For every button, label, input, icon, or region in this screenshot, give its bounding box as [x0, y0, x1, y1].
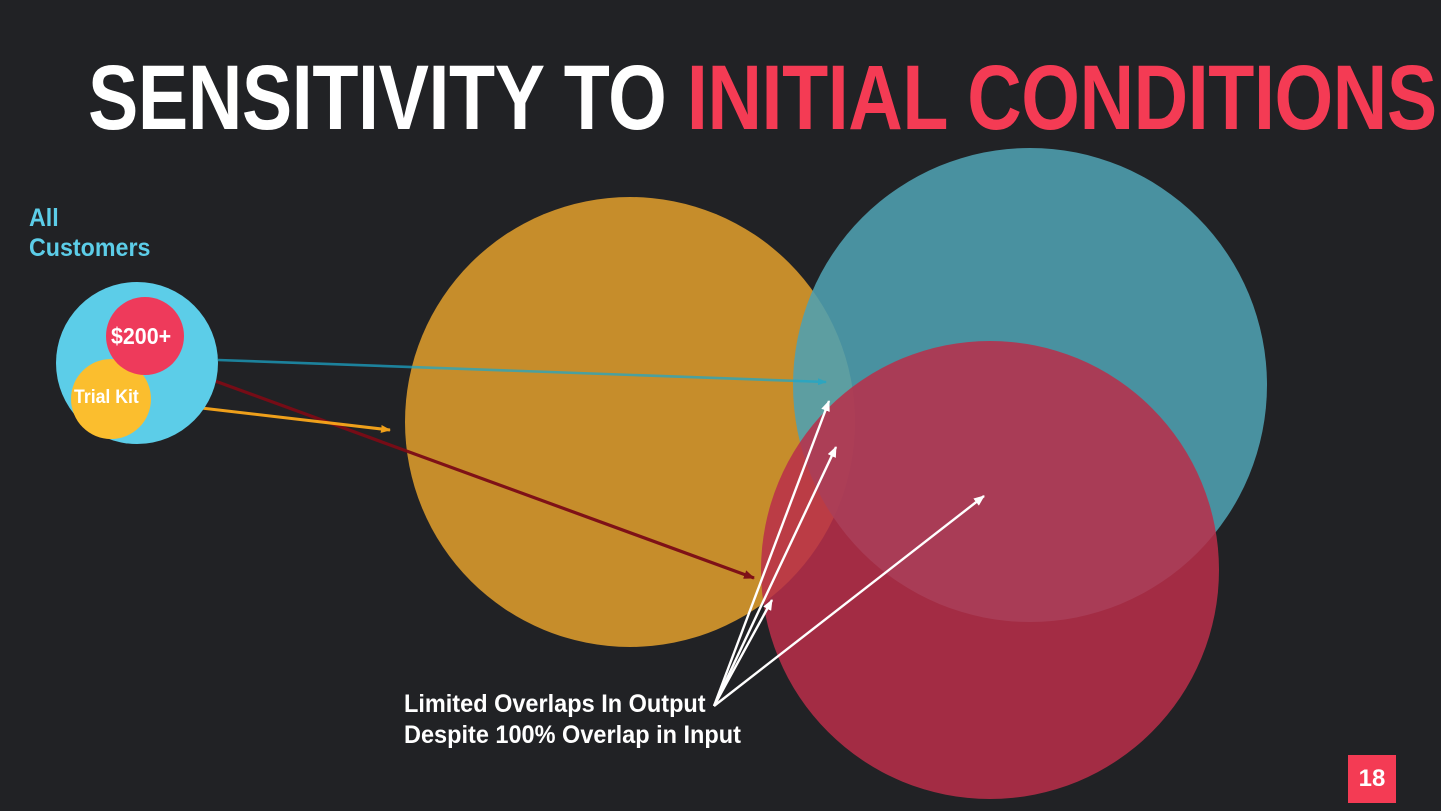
output-crimson-circle	[761, 341, 1219, 799]
overlap-caption: Limited Overlaps In Output Despite 100% …	[404, 689, 741, 751]
page-number-badge: 18	[1348, 755, 1396, 803]
input-circle-group	[56, 282, 218, 444]
slide-canvas: SENSITIVITY TO INITIAL CONDITIONS	[0, 0, 1441, 811]
page-number-text: 18	[1359, 767, 1386, 791]
spend-200-plus-circle	[106, 297, 184, 375]
